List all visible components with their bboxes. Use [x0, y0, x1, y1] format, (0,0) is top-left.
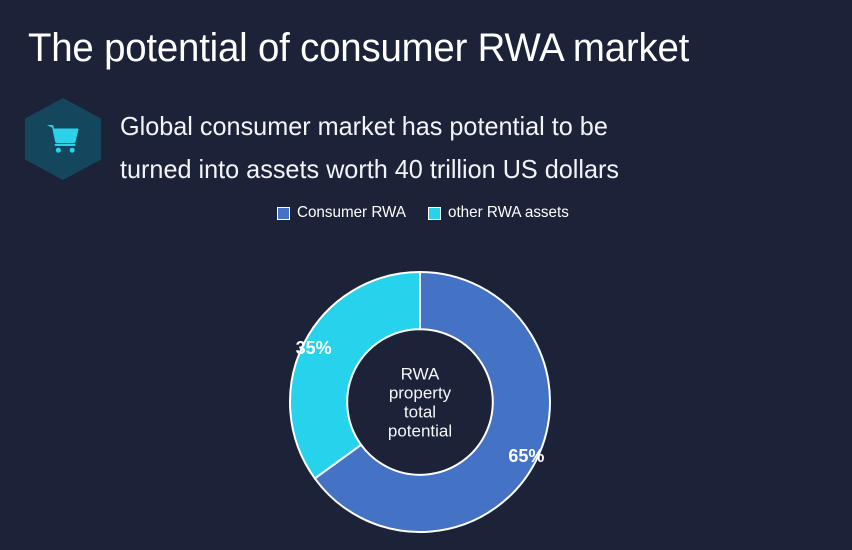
donut-center-label: RWApropertytotalpotential: [388, 365, 452, 441]
legend-item-other-rwa-assets[interactable]: other RWA assets: [428, 204, 575, 222]
page-title: The potential of consumer RWA market: [28, 26, 689, 71]
slice-data-label: 35%: [296, 338, 332, 358]
subtitle-line-2: turned into assets worth 40 trillion US …: [120, 148, 799, 191]
subtitle-line-1: Global consumer market has potential to …: [120, 105, 799, 148]
legend-item-consumer-rwa[interactable]: Consumer RWA: [277, 204, 412, 222]
hexagon-badge: [25, 98, 101, 180]
donut-slice[interactable]: [315, 272, 550, 532]
donut-slice[interactable]: [290, 272, 420, 478]
legend-label: other RWA assets: [448, 204, 569, 222]
subtitle: Global consumer market has potential to …: [120, 105, 799, 191]
shopping-cart-icon: [43, 119, 83, 159]
legend-label: Consumer RWA: [297, 204, 406, 222]
slice-data-label: 65%: [508, 446, 544, 466]
donut-chart: 65% 35% RWApropertytotalpotential: [0, 0, 852, 550]
legend-swatch-icon: [428, 207, 441, 220]
legend-swatch-icon: [277, 207, 290, 220]
donut-chart-svg: 65% 35% RWApropertytotalpotential: [0, 0, 852, 550]
chart-legend: Consumer RWA other RWA assets: [0, 204, 852, 222]
